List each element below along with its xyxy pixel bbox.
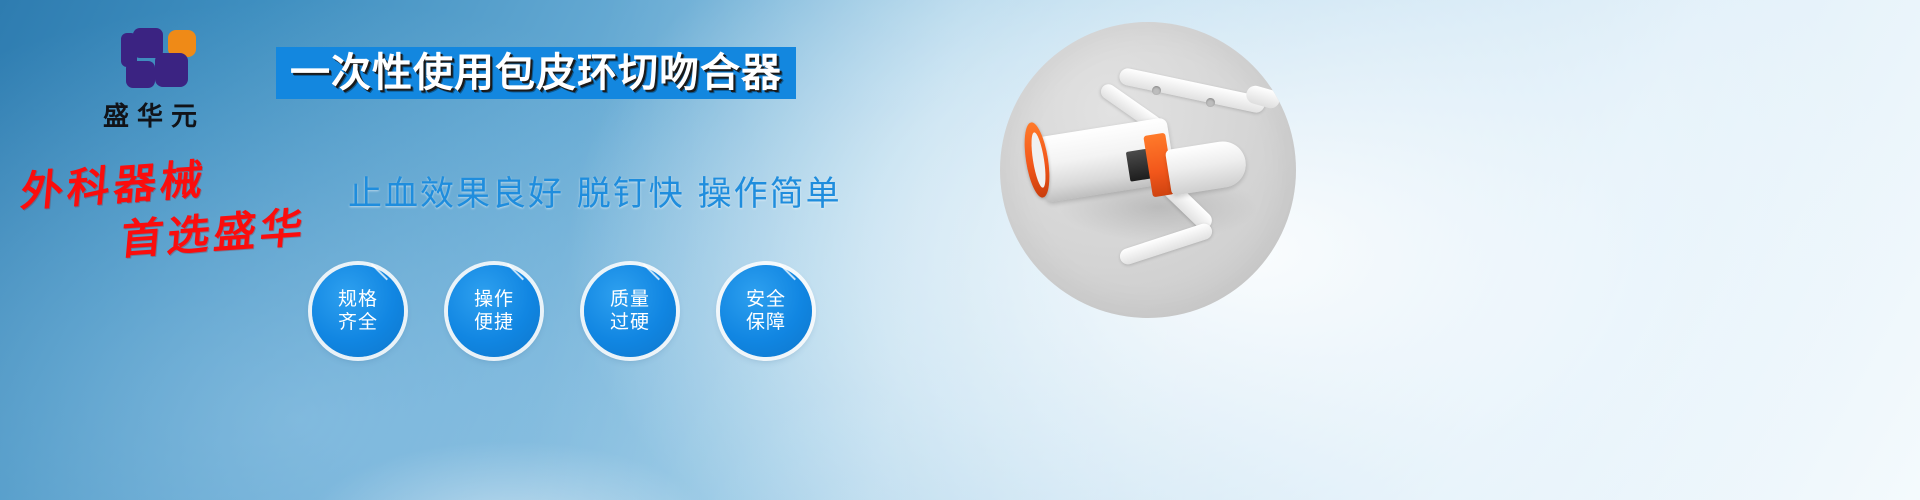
feature-badge-3-line2: 过硬	[610, 311, 650, 334]
product-title-bar: 一次性使用包皮环切吻合器	[276, 47, 796, 99]
stapler-pivot-hole	[1151, 85, 1162, 96]
page-title: 一次性使用包皮环切吻合器	[290, 53, 782, 93]
feature-badge-2-line2: 便捷	[474, 311, 514, 334]
product-subtitle: 止血效果良好 脱钉快 操作简单	[348, 166, 842, 215]
logo-mark-icon	[113, 28, 187, 90]
stapler-pivot-hole	[1205, 97, 1216, 108]
feature-badge-2[interactable]: 操作 便捷	[448, 265, 540, 357]
feature-badge-1-line2: 齐全	[338, 311, 378, 334]
feature-badge-4[interactable]: 安全 保障	[720, 265, 812, 357]
feature-badge-3[interactable]: 质量 过硬	[584, 265, 676, 357]
brand-name: 盛华元	[60, 96, 240, 133]
product-banner: 盛华元 外科器械 首选盛华 一次性使用包皮环切吻合器 止血效果良好 脱钉快 操作…	[0, 0, 1920, 500]
brand-logo[interactable]: 盛华元	[60, 28, 240, 133]
feature-badge-4-line2: 保障	[746, 311, 786, 334]
feature-badge-1[interactable]: 规格 齐全	[312, 265, 404, 357]
bottom-glow-arc	[300, 440, 720, 500]
slogan-line-2: 首选盛华	[119, 194, 310, 268]
product-photo	[1000, 22, 1296, 318]
feature-badge-list: 规格 齐全 操作 便捷 质量 过硬 安全 保障	[312, 265, 812, 357]
